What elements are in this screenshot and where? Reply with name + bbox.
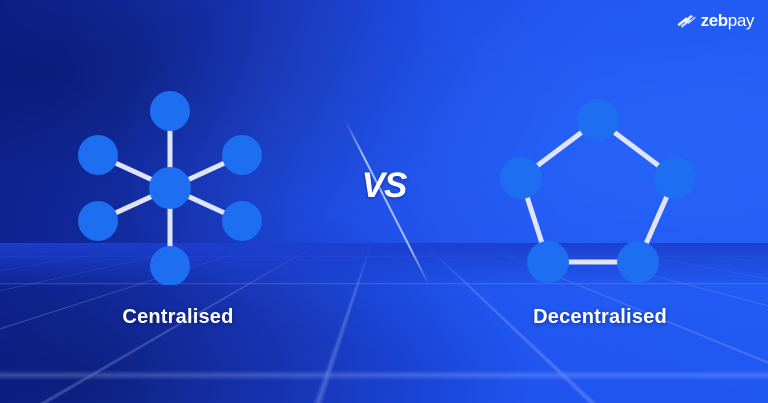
centralised-node-upper-left[interactable] bbox=[78, 135, 118, 175]
decentralised-node-bottom-right[interactable] bbox=[617, 241, 659, 283]
decentralised-nodes bbox=[500, 99, 696, 283]
logo-wordmark-bold: zeb bbox=[701, 11, 728, 30]
versus-label: VS bbox=[352, 168, 416, 203]
decentralised-node-right[interactable] bbox=[654, 157, 696, 199]
decentralised-caption: Decentralised bbox=[470, 306, 730, 329]
decentralised-edges bbox=[521, 120, 675, 262]
centralised-nodes bbox=[78, 91, 262, 285]
decentralised-diagram bbox=[470, 70, 730, 285]
zebpay-logo[interactable]: zebpay bbox=[677, 12, 754, 29]
logo-wordmark: zebpay bbox=[701, 12, 754, 29]
centralised-node-hub[interactable] bbox=[149, 167, 191, 209]
decentralised-node-left[interactable] bbox=[500, 157, 542, 199]
centralised-node-top[interactable] bbox=[150, 91, 190, 131]
centralised-graph-svg bbox=[48, 70, 308, 285]
decentralised-node-top[interactable] bbox=[577, 99, 619, 141]
decentralised-node-bottom-left[interactable] bbox=[527, 241, 569, 283]
centralised-caption: Centralised bbox=[48, 306, 308, 329]
decentralised-graph-svg bbox=[470, 70, 730, 285]
centralised-node-upper-right[interactable] bbox=[222, 135, 262, 175]
logo-wordmark-light: pay bbox=[728, 11, 754, 30]
centralised-node-bottom[interactable] bbox=[150, 246, 190, 285]
centralised-node-lower-right[interactable] bbox=[222, 201, 262, 241]
centralised-diagram bbox=[48, 70, 308, 285]
centralised-node-lower-left[interactable] bbox=[78, 201, 118, 241]
infographic-canvas: zebpay VS Centralised Decentralised bbox=[0, 0, 768, 403]
zebpay-chevron-mark bbox=[677, 13, 696, 28]
